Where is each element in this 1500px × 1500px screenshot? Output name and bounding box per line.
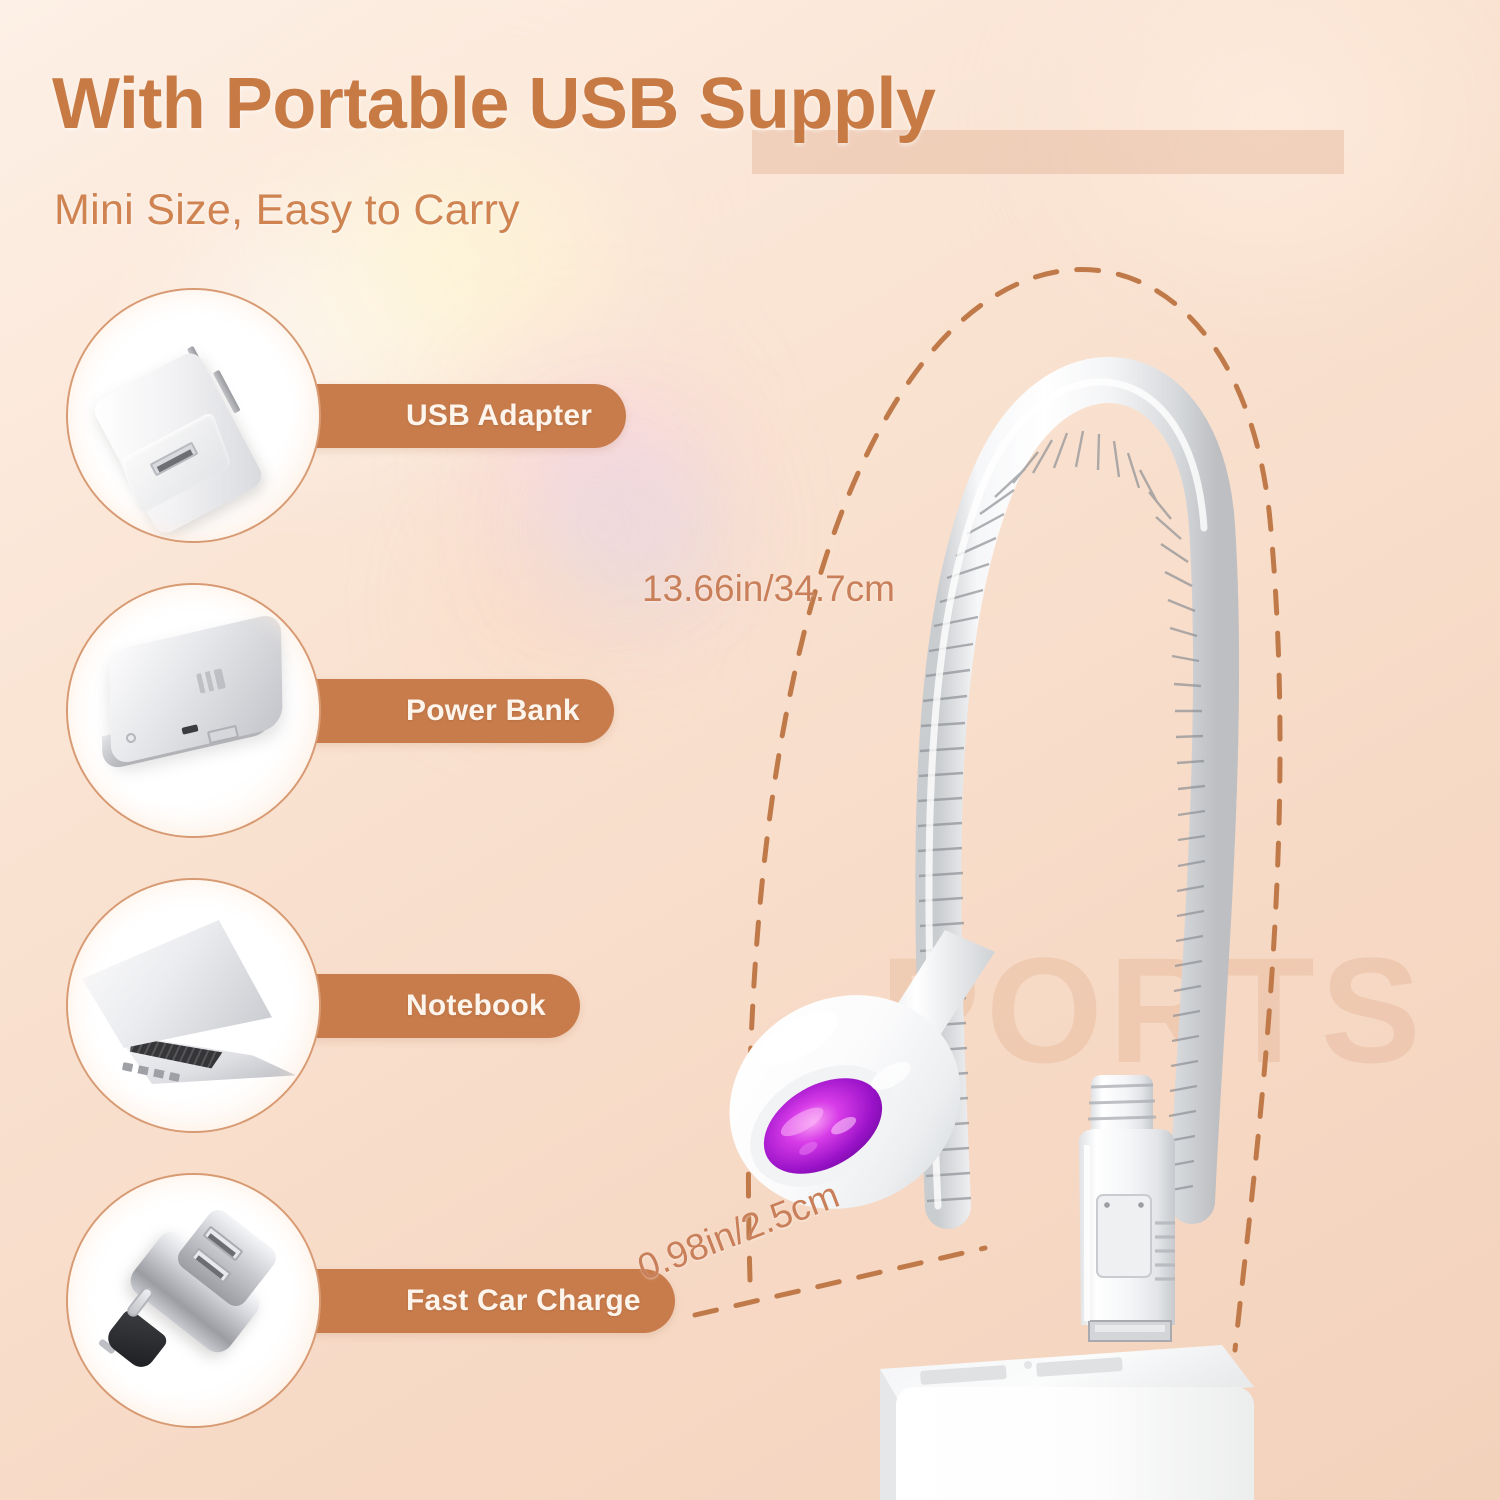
poster-canvas: PORTS With Portable USB Supply Mini Size… <box>0 0 1500 1500</box>
usb-hub-base <box>850 1325 1270 1500</box>
power-bank-icon <box>90 625 300 805</box>
car-charger-icon <box>82 1201 307 1406</box>
page-subtitle: Mini Size, Easy to Carry <box>54 186 520 235</box>
feature-thumbnail-usb-adapter <box>66 288 321 543</box>
usb-wall-adapter-icon <box>94 318 294 518</box>
feature-thumbnail-power-bank <box>66 583 321 838</box>
feature-label: Notebook <box>406 989 546 1023</box>
page-title: With Portable USB Supply <box>52 68 1312 140</box>
laptop-icon <box>78 914 308 1104</box>
dimension-length-label: 13.66in/34.7cm <box>642 568 895 610</box>
feature-thumbnail-car-charger <box>66 1173 321 1428</box>
feature-thumbnail-notebook <box>66 878 321 1133</box>
feature-label: Power Bank <box>406 694 580 728</box>
feature-label: USB Adapter <box>406 399 592 433</box>
product-photo: 13.66in/34.7cm 0.98in/2.5cm <box>600 190 1500 1500</box>
headline-group: With Portable USB Supply <box>52 68 1312 140</box>
